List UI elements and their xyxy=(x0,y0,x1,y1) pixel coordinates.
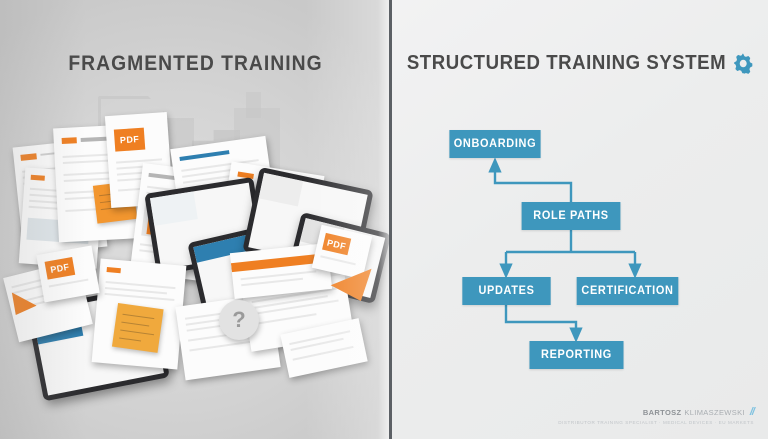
question-mark-label: ? xyxy=(232,307,245,333)
left-panel-title: FRAGMENTED TRAINING xyxy=(16,52,376,76)
flow-node-role-paths[interactable]: ROLE PATHS xyxy=(522,202,621,230)
flow-node-reporting[interactable]: REPORTING xyxy=(529,341,623,369)
pdf-badge-label: PDF xyxy=(326,237,347,251)
document-sheet xyxy=(92,258,187,369)
question-mark-icon: ? xyxy=(219,300,259,340)
flow-node-label: UPDATES xyxy=(478,285,534,297)
watermark-name-bold: BARTOSZ xyxy=(643,408,682,417)
pdf-badge: PDF xyxy=(114,128,145,152)
pdf-badge-label: PDF xyxy=(50,262,71,275)
watermark-name-row: BARTOSZ KLIMASZEWSKI // xyxy=(558,406,754,418)
flow-node-updates[interactable]: UPDATES xyxy=(462,277,550,305)
watermark-name-light: KLIMASZEWSKI xyxy=(684,408,744,417)
slide-canvas: PDF xyxy=(0,0,768,439)
right-panel-structured-training-system: STRUCTURED TRAINING SYSTEM xyxy=(392,0,768,439)
watermark: BARTOSZ KLIMASZEWSKI // DISTRIBUTOR TRAI… xyxy=(558,406,754,425)
flow-node-label: CERTIFICATION xyxy=(581,285,673,297)
flow-node-label: ROLE PATHS xyxy=(533,210,608,222)
document-sheet-pdf: PDF xyxy=(36,246,99,303)
flow-diagram: ONBOARDING ROLE PATHS UPDATES CERTIFICAT… xyxy=(392,0,768,439)
flow-node-label: REPORTING xyxy=(541,349,612,361)
pdf-badge: PDF xyxy=(45,257,76,280)
sticky-note xyxy=(112,303,164,353)
watermark-slashes: // xyxy=(750,406,754,418)
watermark-subtitle: DISTRIBUTOR TRAINING SPECIALIST · MEDICA… xyxy=(558,420,754,425)
panel-divider-glow xyxy=(378,0,389,439)
pdf-badge-label: PDF xyxy=(120,134,140,145)
flow-node-certification[interactable]: CERTIFICATION xyxy=(577,277,679,305)
flow-node-onboarding[interactable]: ONBOARDING xyxy=(449,130,540,158)
flow-node-label: ONBOARDING xyxy=(454,138,537,150)
pdf-badge: PDF xyxy=(322,233,351,255)
